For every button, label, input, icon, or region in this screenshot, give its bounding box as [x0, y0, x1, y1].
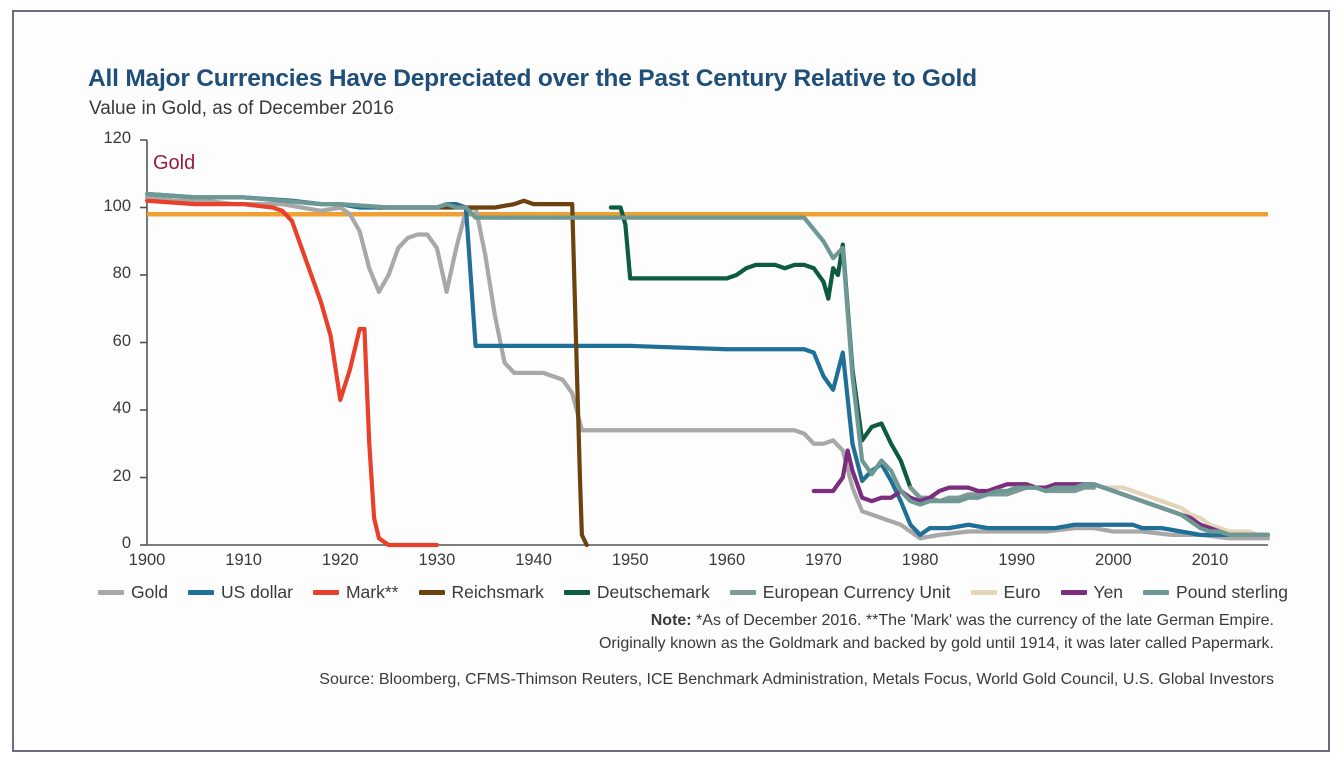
legend-swatch-icon — [98, 590, 124, 595]
legend-label: US dollar — [221, 582, 293, 603]
figure-frame: All Major Currencies Have Depreciated ov… — [12, 10, 1330, 752]
legend-label: Deutschemark — [597, 582, 710, 603]
legend-item[interactable]: Reichsmark — [419, 582, 544, 603]
x-axis-tick-label: 1910 — [214, 551, 274, 570]
legend-swatch-icon — [730, 590, 756, 595]
page-title: All Major Currencies Have Depreciated ov… — [88, 65, 977, 93]
legend-label: Yen — [1094, 582, 1124, 603]
legend-swatch-icon — [564, 590, 590, 595]
legend-swatch-icon — [971, 590, 997, 595]
series-line-mark[interactable] — [147, 201, 437, 545]
series-line-us-dollar[interactable] — [147, 194, 1268, 535]
note-prefix: Note: — [651, 612, 692, 629]
legend-swatch-icon — [419, 590, 445, 595]
chart-subtitle: Value in Gold, as of December 2016 — [89, 98, 394, 120]
y-axis-tick-label: 60 — [91, 332, 131, 351]
legend-item[interactable]: US dollar — [188, 582, 293, 603]
note-line-2: Originally known as the Goldmark and bac… — [89, 633, 1274, 656]
legend-label: Pound sterling — [1176, 582, 1288, 603]
legend-label: Mark** — [346, 582, 399, 603]
legend-swatch-icon — [1143, 590, 1169, 595]
x-axis-tick-label: 1900 — [117, 551, 177, 570]
legend-item[interactable]: European Currency Unit — [730, 582, 951, 603]
x-axis-tick-label: 1940 — [504, 551, 564, 570]
source-line: Source: Bloomberg, CFMS-Thimson Reuters,… — [89, 671, 1274, 689]
series-line-pound-sterling[interactable] — [147, 194, 1268, 535]
chart-card: All Major Currencies Have Depreciated ov… — [14, 12, 1328, 750]
y-axis-tick-label: 80 — [91, 264, 131, 283]
legend-label: Gold — [131, 582, 168, 603]
legend-swatch-icon — [313, 590, 339, 595]
chart-svg — [135, 130, 1270, 690]
plot-area — [135, 130, 1270, 545]
legend-label: Reichsmark — [452, 582, 544, 603]
source-text: Bloomberg, CFMS-Thimson Reuters, ICE Ben… — [379, 671, 1274, 688]
x-axis-tick-label: 1970 — [793, 551, 853, 570]
legend-item[interactable]: Euro — [971, 582, 1041, 603]
y-axis-tick-label: 20 — [91, 467, 131, 486]
source-prefix: Source: — [319, 671, 374, 688]
y-axis-tick-label: 40 — [91, 399, 131, 418]
y-axis-tick-label: 100 — [91, 197, 131, 216]
x-axis-tick-label: 1960 — [697, 551, 757, 570]
legend-label: European Currency Unit — [763, 582, 951, 603]
legend-swatch-icon — [1061, 590, 1087, 595]
legend-item[interactable]: Yen — [1061, 582, 1124, 603]
y-axis-tick-label: 120 — [91, 129, 131, 148]
legend-item[interactable]: Gold — [98, 582, 168, 603]
x-axis-tick-label: 1990 — [987, 551, 1047, 570]
notes-block: Note: *As of December 2016. **The 'Mark'… — [89, 610, 1274, 655]
x-axis-tick-label: 2010 — [1180, 551, 1240, 570]
legend-item[interactable]: Mark** — [313, 582, 399, 603]
x-axis-tick-label: 1980 — [890, 551, 950, 570]
legend-item[interactable]: Deutschemark — [564, 582, 710, 603]
x-axis-tick-label: 1920 — [310, 551, 370, 570]
chart-legend: GoldUS dollarMark**ReichsmarkDeutschemar… — [98, 582, 1288, 603]
legend-item[interactable]: Pound sterling — [1143, 582, 1288, 603]
legend-label: Euro — [1004, 582, 1041, 603]
note-line-1: Note: *As of December 2016. **The 'Mark'… — [89, 610, 1274, 633]
series-line-deutschemark[interactable] — [611, 208, 925, 502]
legend-swatch-icon — [188, 590, 214, 595]
x-axis-tick-label: 1950 — [600, 551, 660, 570]
x-axis-tick-label: 1930 — [407, 551, 467, 570]
note-text-1: *As of December 2016. **The 'Mark' was t… — [696, 612, 1274, 629]
x-axis-tick-label: 2000 — [1083, 551, 1143, 570]
